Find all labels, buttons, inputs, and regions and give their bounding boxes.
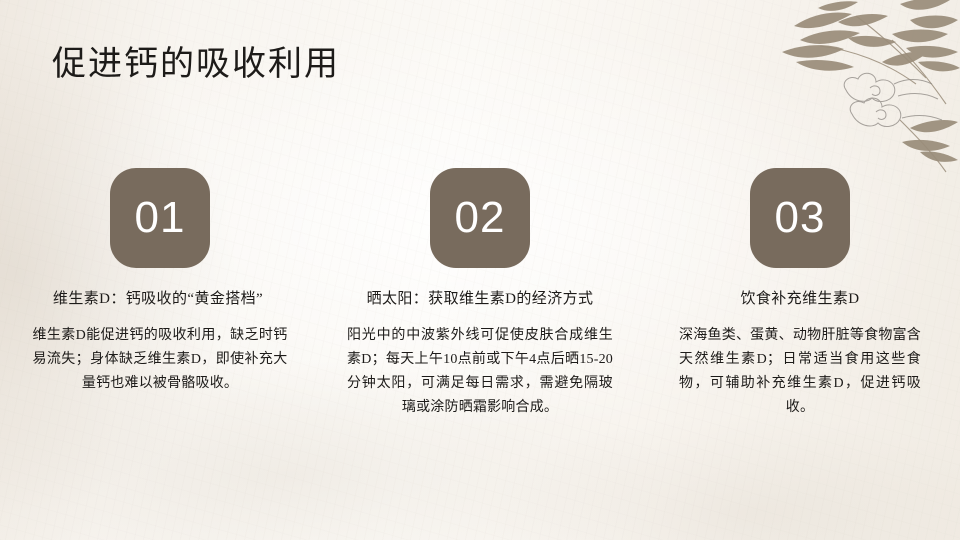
column-01: 01 维生素D：钙吸收的“黄金搭档” 维生素D能促进钙的吸收利用，缺乏时钙易流失… [0, 168, 320, 396]
step-badge-02: 02 [430, 168, 530, 268]
column-heading-03: 饮食补充维生素D [740, 288, 859, 310]
column-02: 02 晒太阳：获取维生素D的经济方式 阳光中的中波紫外线可促使皮肤合成维生素D；… [320, 168, 640, 420]
column-heading-01: 维生素D：钙吸收的“黄金搭档” [53, 288, 263, 310]
column-heading-02: 晒太阳：获取维生素D的经济方式 [367, 288, 594, 310]
bamboo-leaves-icon [760, 0, 960, 180]
page-title: 促进钙的吸收利用 [52, 44, 340, 86]
columns-container: 01 维生素D：钙吸收的“黄金搭档” 维生素D能促进钙的吸收利用，缺乏时钙易流失… [0, 168, 960, 420]
step-badge-01: 01 [110, 168, 210, 268]
column-body-01: 维生素D能促进钙的吸收利用，缺乏时钙易流失；身体缺乏维生素D，即使补充大量钙也难… [33, 324, 288, 396]
column-03: 03 饮食补充维生素D 深海鱼类、蛋黄、动物肝脏等食物富含天然维生素D；日常适当… [640, 168, 960, 420]
slide-canvas: 促进钙的吸收利用 01 维生素D：钙吸收的“黄金搭档” 维生素D能促进钙的吸收利… [0, 0, 960, 540]
step-badge-03: 03 [750, 168, 850, 268]
column-body-03: 深海鱼类、蛋黄、动物肝脏等食物富含天然维生素D；日常适当食用这些食物，可辅助补充… [679, 324, 921, 420]
column-body-02: 阳光中的中波紫外线可促使皮肤合成维生素D；每天上午10点前或下午4点后晒15-2… [347, 324, 613, 420]
